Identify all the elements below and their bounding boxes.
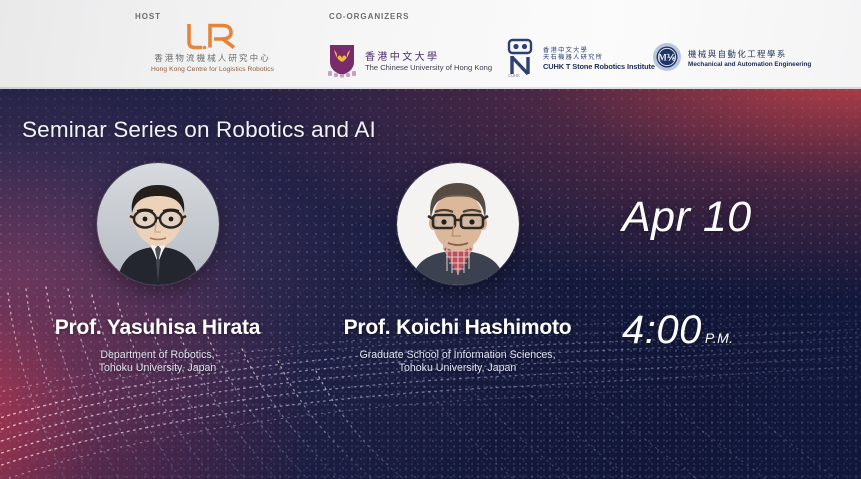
- svg-text:M⅙: M⅙: [658, 53, 675, 63]
- seminar-time: 4:00: [622, 308, 702, 353]
- host-logo-hkclr: 香港物流機械人研究中心 Hong Kong Centre for Logisti…: [150, 22, 275, 75]
- hkclr-name-en: Hong Kong Centre for Logistics Robotics: [150, 65, 275, 75]
- speaker-card-2: Prof. Koichi Hashimoto Graduate School o…: [300, 163, 615, 376]
- svg-text:CUHK: CUHK: [508, 73, 520, 78]
- co-organizer-t-stone: CUHK 香港中文大學 天石機器人研究所 CUHK T Stone Roboti…: [505, 36, 655, 83]
- co-organizers-label: CO-ORGANIZERS: [329, 12, 409, 21]
- speaker-2-name: Prof. Koichi Hashimoto: [300, 316, 615, 340]
- t-stone-robot-icon: CUHK: [505, 36, 537, 83]
- avatar-speaker-2: [397, 163, 519, 285]
- mae-name-cn: 機械與自動化工程學系: [688, 50, 811, 59]
- mae-name-en: Mechanical and Automation Engineering: [688, 61, 811, 68]
- speaker-2-affiliation: Graduate School of Information Sciences,…: [300, 349, 615, 376]
- seminar-banner: Seminar Series on Robotics and AI: [0, 89, 861, 479]
- co-organizer-mae: M⅙ 機械與自動化工程學系 Mechanical and Automation …: [652, 42, 811, 77]
- page-title: Seminar Series on Robotics and AI: [22, 117, 376, 143]
- seminar-meridiem: P.M.: [705, 330, 734, 346]
- seminar-date: Apr 10: [622, 193, 752, 242]
- avatar-speaker-1: [97, 163, 219, 285]
- lr-monogram-icon: [184, 22, 242, 50]
- cuhk-name-cn: 香港中文大學: [365, 52, 492, 63]
- t-stone-name-cn-line1: 香港中文大學 天石機器人研究所: [543, 48, 655, 62]
- hkclr-name-cn: 香港物流機械人研究中心: [150, 53, 275, 64]
- co-organizer-cuhk: 香港中文大學 The Chinese University of Hong Ko…: [325, 42, 492, 83]
- cuhk-name-en: The Chinese University of Hong Kong: [365, 64, 492, 73]
- host-label: HOST: [135, 12, 161, 21]
- seminar-poster: HOST CO-ORGANIZERS 香港物流機械人研究中心 Hong Kong…: [0, 0, 861, 479]
- seminar-time-group: 4:00 P.M.: [622, 308, 733, 353]
- t-stone-name-en: CUHK T Stone Robotics Institute: [543, 63, 655, 71]
- mae-roundel-icon: M⅙: [652, 42, 682, 77]
- sponsor-logo-bar: HOST CO-ORGANIZERS 香港物流機械人研究中心 Hong Kong…: [0, 0, 861, 89]
- speaker-1-affiliation: Department of Robotics, Tohoku Universit…: [0, 349, 315, 376]
- speaker-1-name: Prof. Yasuhisa Hirata: [0, 316, 315, 340]
- speaker-card-1: Prof. Yasuhisa Hirata Department of Robo…: [0, 163, 315, 376]
- cuhk-shield-icon: [325, 42, 359, 83]
